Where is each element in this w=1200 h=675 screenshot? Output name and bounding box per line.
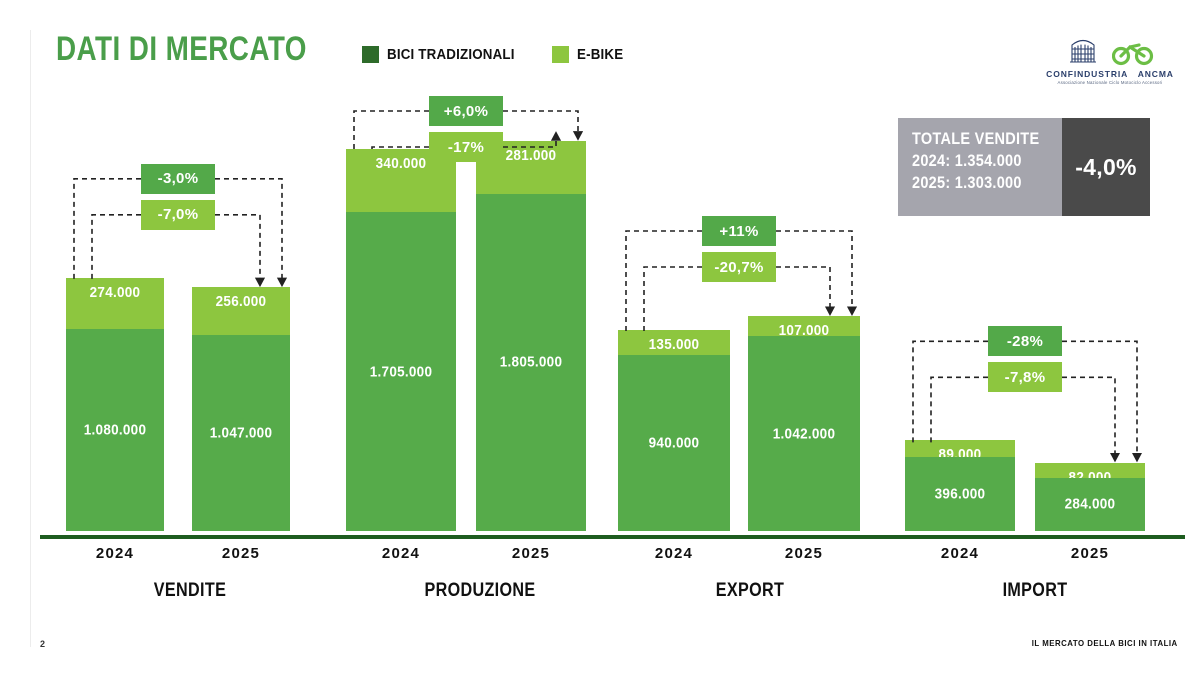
square-swatch-icon: [362, 46, 379, 63]
slide-canvas: DATI DI MERCATO BICI TRADIZIONALI E-BIKE: [0, 0, 1200, 675]
bar-value-traditional: 1.805.000: [482, 354, 581, 371]
group-title-produzione: PRODUZIONE: [353, 580, 608, 602]
legend-label-traditional: BICI TRADIZIONALI: [387, 47, 515, 63]
bar-segment-traditional[interactable]: 1.042.000: [748, 336, 860, 531]
bar-value-traditional: 1.047.000: [197, 425, 285, 442]
chart-legend: BICI TRADIZIONALI E-BIKE: [362, 46, 627, 63]
bar-segment-ebike[interactable]: 274.000: [66, 278, 164, 329]
x-axis-tick-2025: 2025: [192, 545, 290, 562]
bar-segment-ebike[interactable]: 256.000: [192, 287, 290, 335]
bar-segment-traditional[interactable]: 1.805.000: [476, 194, 586, 531]
bar-segment-traditional[interactable]: 1.047.000: [192, 335, 290, 531]
logo-block: CONFINDUSTRIA ANCMA Associazione Naziona…: [1040, 30, 1180, 85]
bar-segment-traditional[interactable]: 284.000: [1035, 478, 1145, 531]
bar-2025[interactable]: 107.0001.042.000: [748, 316, 860, 531]
delta-badge-total: +6,0%: [429, 96, 503, 126]
square-swatch-icon: [552, 46, 569, 63]
chart-group-import: 2024202589.000396.00082.000284.000-28%-7…: [885, 90, 1185, 610]
group-title-export: EXPORT: [623, 580, 878, 602]
bar-segment-traditional[interactable]: 1.705.000: [346, 212, 456, 531]
group-title-import: IMPORT: [908, 580, 1163, 602]
plot-area: 135.000940.000107.0001.042.000+11%-20,7%: [600, 90, 900, 535]
bar-segment-ebike[interactable]: 107.000: [748, 316, 860, 336]
delta-badge-total: +11%: [702, 216, 776, 246]
plot-area: 340.0001.705.000281.0001.805.000+6,0%-17…: [330, 90, 630, 535]
confindustria-name: CONFINDUSTRIA: [1046, 69, 1128, 79]
x-axis-tick-2024: 2024: [346, 545, 456, 562]
bar-value-traditional: 284.000: [1041, 496, 1140, 513]
delta-badge-ebike: -7,8%: [988, 362, 1062, 392]
bar-value-traditional: 1.042.000: [754, 425, 855, 442]
legend-label-ebike: E-BIKE: [577, 47, 623, 63]
bar-value-traditional: 1.705.000: [352, 363, 451, 380]
bicycle-logo-icon: [1112, 38, 1154, 66]
x-axis-tick-2025: 2025: [1035, 545, 1145, 562]
confindustria-emblem-icon: [1066, 32, 1100, 66]
x-axis-line: [600, 535, 900, 539]
bar-2024[interactable]: 340.0001.705.000: [346, 149, 456, 531]
delta-badge-ebike: -20,7%: [702, 252, 776, 282]
bar-segment-ebike[interactable]: 135.000: [618, 330, 730, 355]
bar-value-ebike: 256.000: [197, 293, 285, 310]
x-axis-line: [40, 535, 340, 539]
chart-area: 20242025274.0001.080.000256.0001.047.000…: [0, 90, 1200, 610]
bar-value-ebike: 135.000: [624, 336, 725, 353]
bar-segment-ebike[interactable]: 89.000: [905, 440, 1015, 457]
logo-row: [1040, 30, 1180, 66]
bar-segment-traditional[interactable]: 396.000: [905, 457, 1015, 531]
bar-2025[interactable]: 82.000284.000: [1035, 463, 1145, 531]
page-number: 2: [40, 639, 45, 649]
logo-subtitle: Associazione Nazionale Ciclo Motociclo A…: [1040, 80, 1180, 85]
delta-badge-total: -3,0%: [141, 164, 215, 194]
bar-2024[interactable]: 89.000396.000: [905, 440, 1015, 531]
delta-badge-ebike: -7,0%: [141, 200, 215, 230]
x-axis-tick-2025: 2025: [476, 545, 586, 562]
x-axis-line: [330, 535, 630, 539]
legend-item-ebike: E-BIKE: [552, 46, 627, 63]
x-axis-tick-2024: 2024: [618, 545, 730, 562]
delta-badge-total: -28%: [988, 326, 1062, 356]
page-title: DATI DI MERCATO: [56, 30, 307, 69]
legend-item-traditional: BICI TRADIZIONALI: [362, 46, 526, 63]
bar-2025[interactable]: 256.0001.047.000: [192, 287, 290, 531]
bar-segment-ebike[interactable]: 82.000: [1035, 463, 1145, 478]
group-title-vendite: VENDITE: [63, 580, 318, 602]
bar-value-traditional: 1.080.000: [71, 422, 159, 439]
plot-area: 274.0001.080.000256.0001.047.000-3,0%-7,…: [40, 90, 340, 535]
bar-value-traditional: 396.000: [911, 485, 1010, 502]
bar-segment-traditional[interactable]: 1.080.000: [66, 329, 164, 531]
bar-segment-traditional[interactable]: 940.000: [618, 355, 730, 531]
plot-area: 89.000396.00082.000284.000-28%-7,8%: [885, 90, 1185, 535]
footer-note: IL MERCATO DELLA BICI IN ITALIA: [1032, 638, 1178, 648]
x-axis-tick-2025: 2025: [748, 545, 860, 562]
chart-group-vendite: 20242025274.0001.080.000256.0001.047.000…: [40, 90, 340, 610]
chart-group-export: 20242025135.000940.000107.0001.042.000+1…: [600, 90, 900, 610]
x-axis-line: [885, 535, 1185, 539]
delta-badge-ebike: -17%: [429, 132, 503, 162]
bar-value-ebike: 274.000: [71, 284, 159, 301]
bar-2025[interactable]: 281.0001.805.000: [476, 141, 586, 531]
x-axis-tick-2024: 2024: [905, 545, 1015, 562]
bar-2024[interactable]: 274.0001.080.000: [66, 278, 164, 531]
bar-value-traditional: 940.000: [624, 435, 725, 452]
ancma-name: ANCMA: [1138, 69, 1174, 79]
chart-group-produzione: 20242025340.0001.705.000281.0001.805.000…: [330, 90, 630, 610]
logo-names: CONFINDUSTRIA ANCMA: [1040, 69, 1180, 79]
x-axis-tick-2024: 2024: [66, 545, 164, 562]
bar-2024[interactable]: 135.000940.000: [618, 330, 730, 531]
